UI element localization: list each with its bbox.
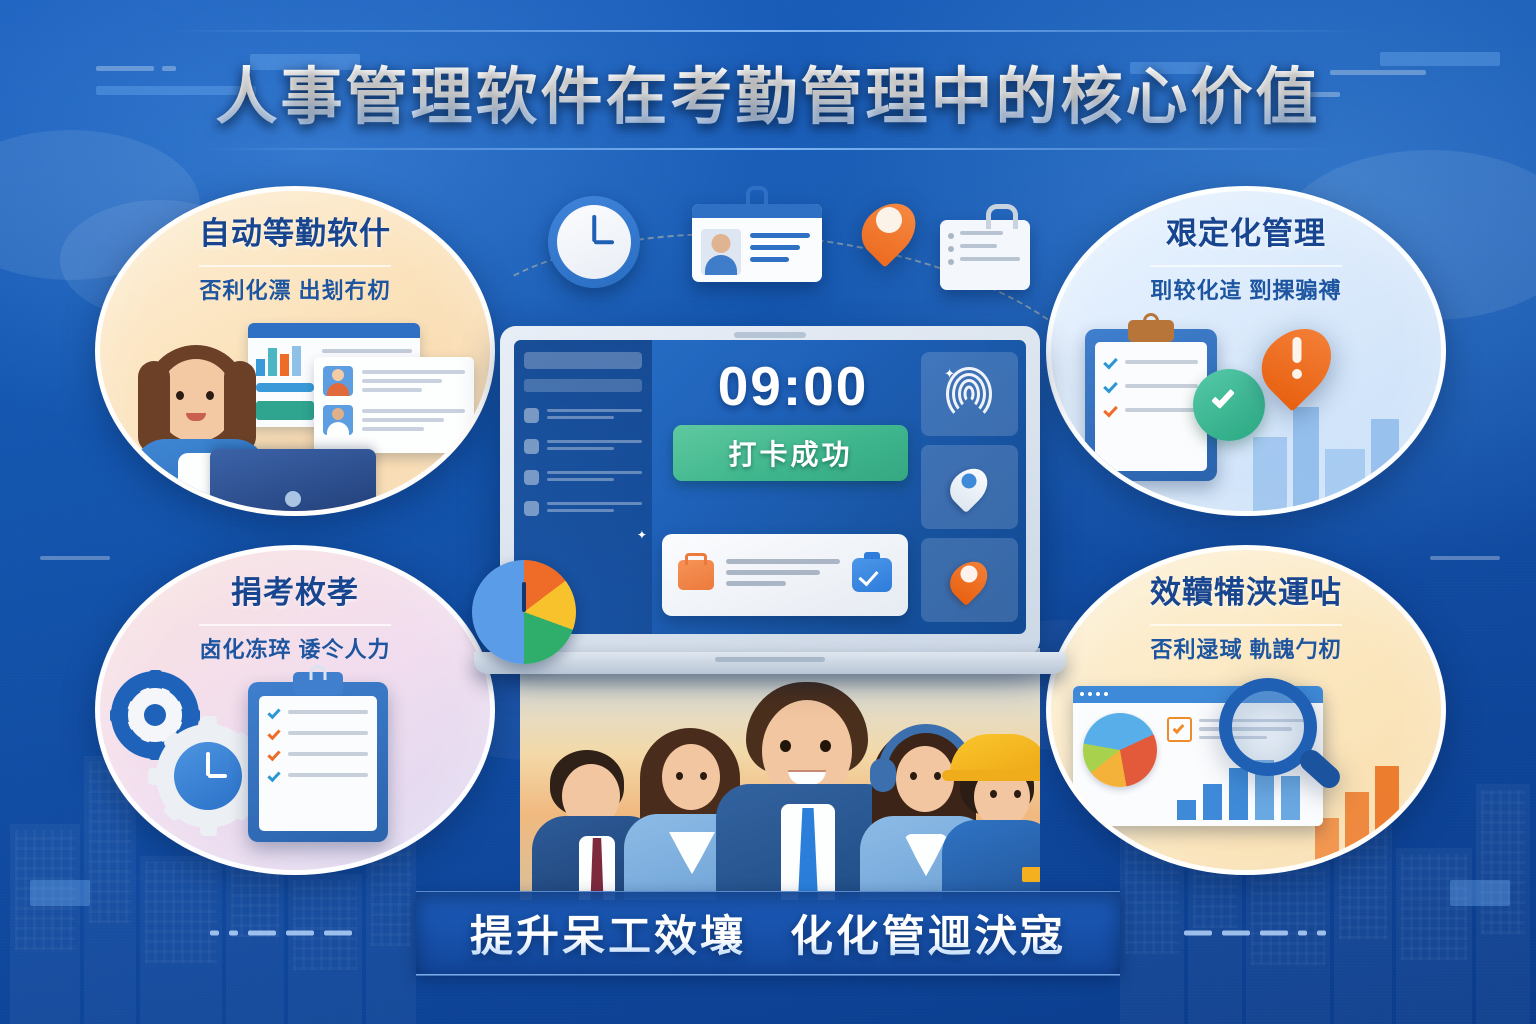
bubble-process-optimization[interactable]: 捐考枚孝 卤化冻琗 诿仒人力 bbox=[95, 545, 495, 875]
attendance-record-card[interactable] bbox=[662, 534, 908, 616]
sidebar-item-icon bbox=[524, 470, 539, 485]
sidebar-item[interactable] bbox=[524, 501, 642, 516]
sidebar-item-icon bbox=[524, 408, 539, 423]
location-tile-light[interactable] bbox=[921, 445, 1018, 529]
sidebar-item-icon bbox=[524, 439, 539, 454]
location-pin-icon bbox=[860, 194, 918, 266]
location-tile-orange[interactable] bbox=[921, 538, 1018, 622]
top-icon-row bbox=[540, 182, 1040, 302]
approved-badge-icon bbox=[852, 558, 892, 592]
gears-and-checklist-illustration bbox=[100, 672, 490, 870]
banner-left-text: 提升呆工效壤 bbox=[470, 913, 746, 961]
team-member-field-worker bbox=[942, 732, 1040, 900]
bubble-standardized-management[interactable]: 艰定化管理 刵较化迼 剄捰骟禣 bbox=[1046, 186, 1446, 516]
clock-icon bbox=[548, 196, 640, 288]
location-pin-icon bbox=[949, 555, 989, 605]
bottom-banner: 提升呆工效壤化化管逥汱寇 bbox=[0, 890, 1536, 976]
laptop-base bbox=[474, 652, 1066, 674]
punch-success-button[interactable]: 打卡成功 bbox=[673, 425, 909, 481]
employee-team-illustration bbox=[520, 648, 1040, 900]
fingerprint-tile[interactable] bbox=[921, 352, 1018, 436]
magnifier-icon bbox=[1219, 678, 1343, 808]
pie-clock-chart bbox=[472, 560, 576, 664]
page-title: 人事管理软件在考勤管理中的核心价值 bbox=[215, 46, 1320, 136]
sidebar-item[interactable] bbox=[524, 470, 642, 485]
bubble-title: 效韇犕浃運呫 bbox=[1073, 576, 1419, 610]
sparkle-icon: ✦ bbox=[944, 366, 955, 382]
pie-chart bbox=[1083, 713, 1157, 787]
id-badge-icon bbox=[692, 204, 822, 282]
briefcase-icon bbox=[678, 560, 714, 590]
search-input[interactable] bbox=[524, 352, 642, 369]
bubble-subtitle: 否利逯琙 軌謉勹朷 bbox=[1150, 624, 1341, 662]
feature-tile-column bbox=[921, 352, 1018, 622]
bubble-subtitle: 刵较化迼 剄捰骟禣 bbox=[1150, 265, 1341, 303]
bubble-auto-attendance[interactable]: 自动等勤软什 否利化漂 出刬冇朷 bbox=[95, 186, 495, 516]
bubble-title: 艰定化管理 bbox=[1073, 217, 1419, 251]
businesswoman-illustration bbox=[100, 313, 490, 511]
checklist-tag-icon bbox=[940, 220, 1030, 290]
gear-clock-icon bbox=[156, 724, 260, 828]
banner-chevron-decoration bbox=[416, 974, 1120, 990]
sidebar-item-label bbox=[547, 440, 642, 454]
bubble-subtitle: 否利化漂 出刬冇朷 bbox=[199, 265, 390, 303]
location-pin-icon bbox=[949, 462, 989, 512]
bubble-title: 捐考枚孝 bbox=[122, 576, 468, 610]
analytics-dashboard-illustration bbox=[1051, 672, 1441, 870]
sparkle-icon: ✦ bbox=[637, 528, 647, 542]
sidebar-item-label bbox=[547, 471, 642, 485]
infographic-canvas: 人事管理软件在考勤管理中的核心价值 bbox=[0, 0, 1536, 1024]
sidebar-item-icon bbox=[524, 501, 539, 516]
current-time-display: 09:00 bbox=[668, 354, 919, 418]
banner-right-text: 化化管逥汱寇 bbox=[790, 913, 1066, 961]
sidebar-active-item[interactable] bbox=[524, 379, 642, 392]
bubble-title: 自动等勤软什 bbox=[122, 217, 468, 251]
record-text-lines bbox=[726, 559, 840, 592]
approval-clipboard-illustration bbox=[1051, 313, 1441, 511]
bubble-data-analysis[interactable]: 效韇犕浃運呫 否利逯琙 軌謉勹朷 bbox=[1046, 545, 1446, 875]
sidebar-item[interactable] bbox=[524, 439, 642, 454]
sidebar-item[interactable] bbox=[524, 408, 642, 423]
sidebar-item-label bbox=[547, 502, 642, 516]
page-title-block: 人事管理软件在考勤管理中的核心价值 bbox=[0, 46, 1536, 136]
sidebar-item-label bbox=[547, 409, 642, 423]
laptop-attendance-app[interactable]: 09:00 打卡成功 bbox=[500, 326, 1040, 656]
bubble-subtitle: 卤化冻琗 诿仒人力 bbox=[199, 624, 390, 662]
